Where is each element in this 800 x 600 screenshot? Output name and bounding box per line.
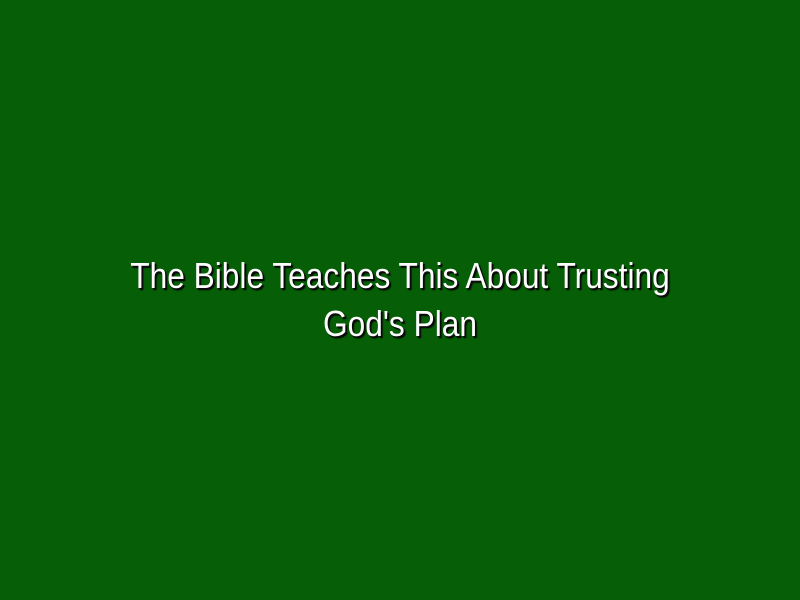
title-block: The Bible Teaches This About Trusting Go… [50,252,750,348]
banner-title: The Bible Teaches This About Trusting Go… [92,252,708,348]
banner-canvas: The Bible Teaches This About Trusting Go… [0,0,800,600]
